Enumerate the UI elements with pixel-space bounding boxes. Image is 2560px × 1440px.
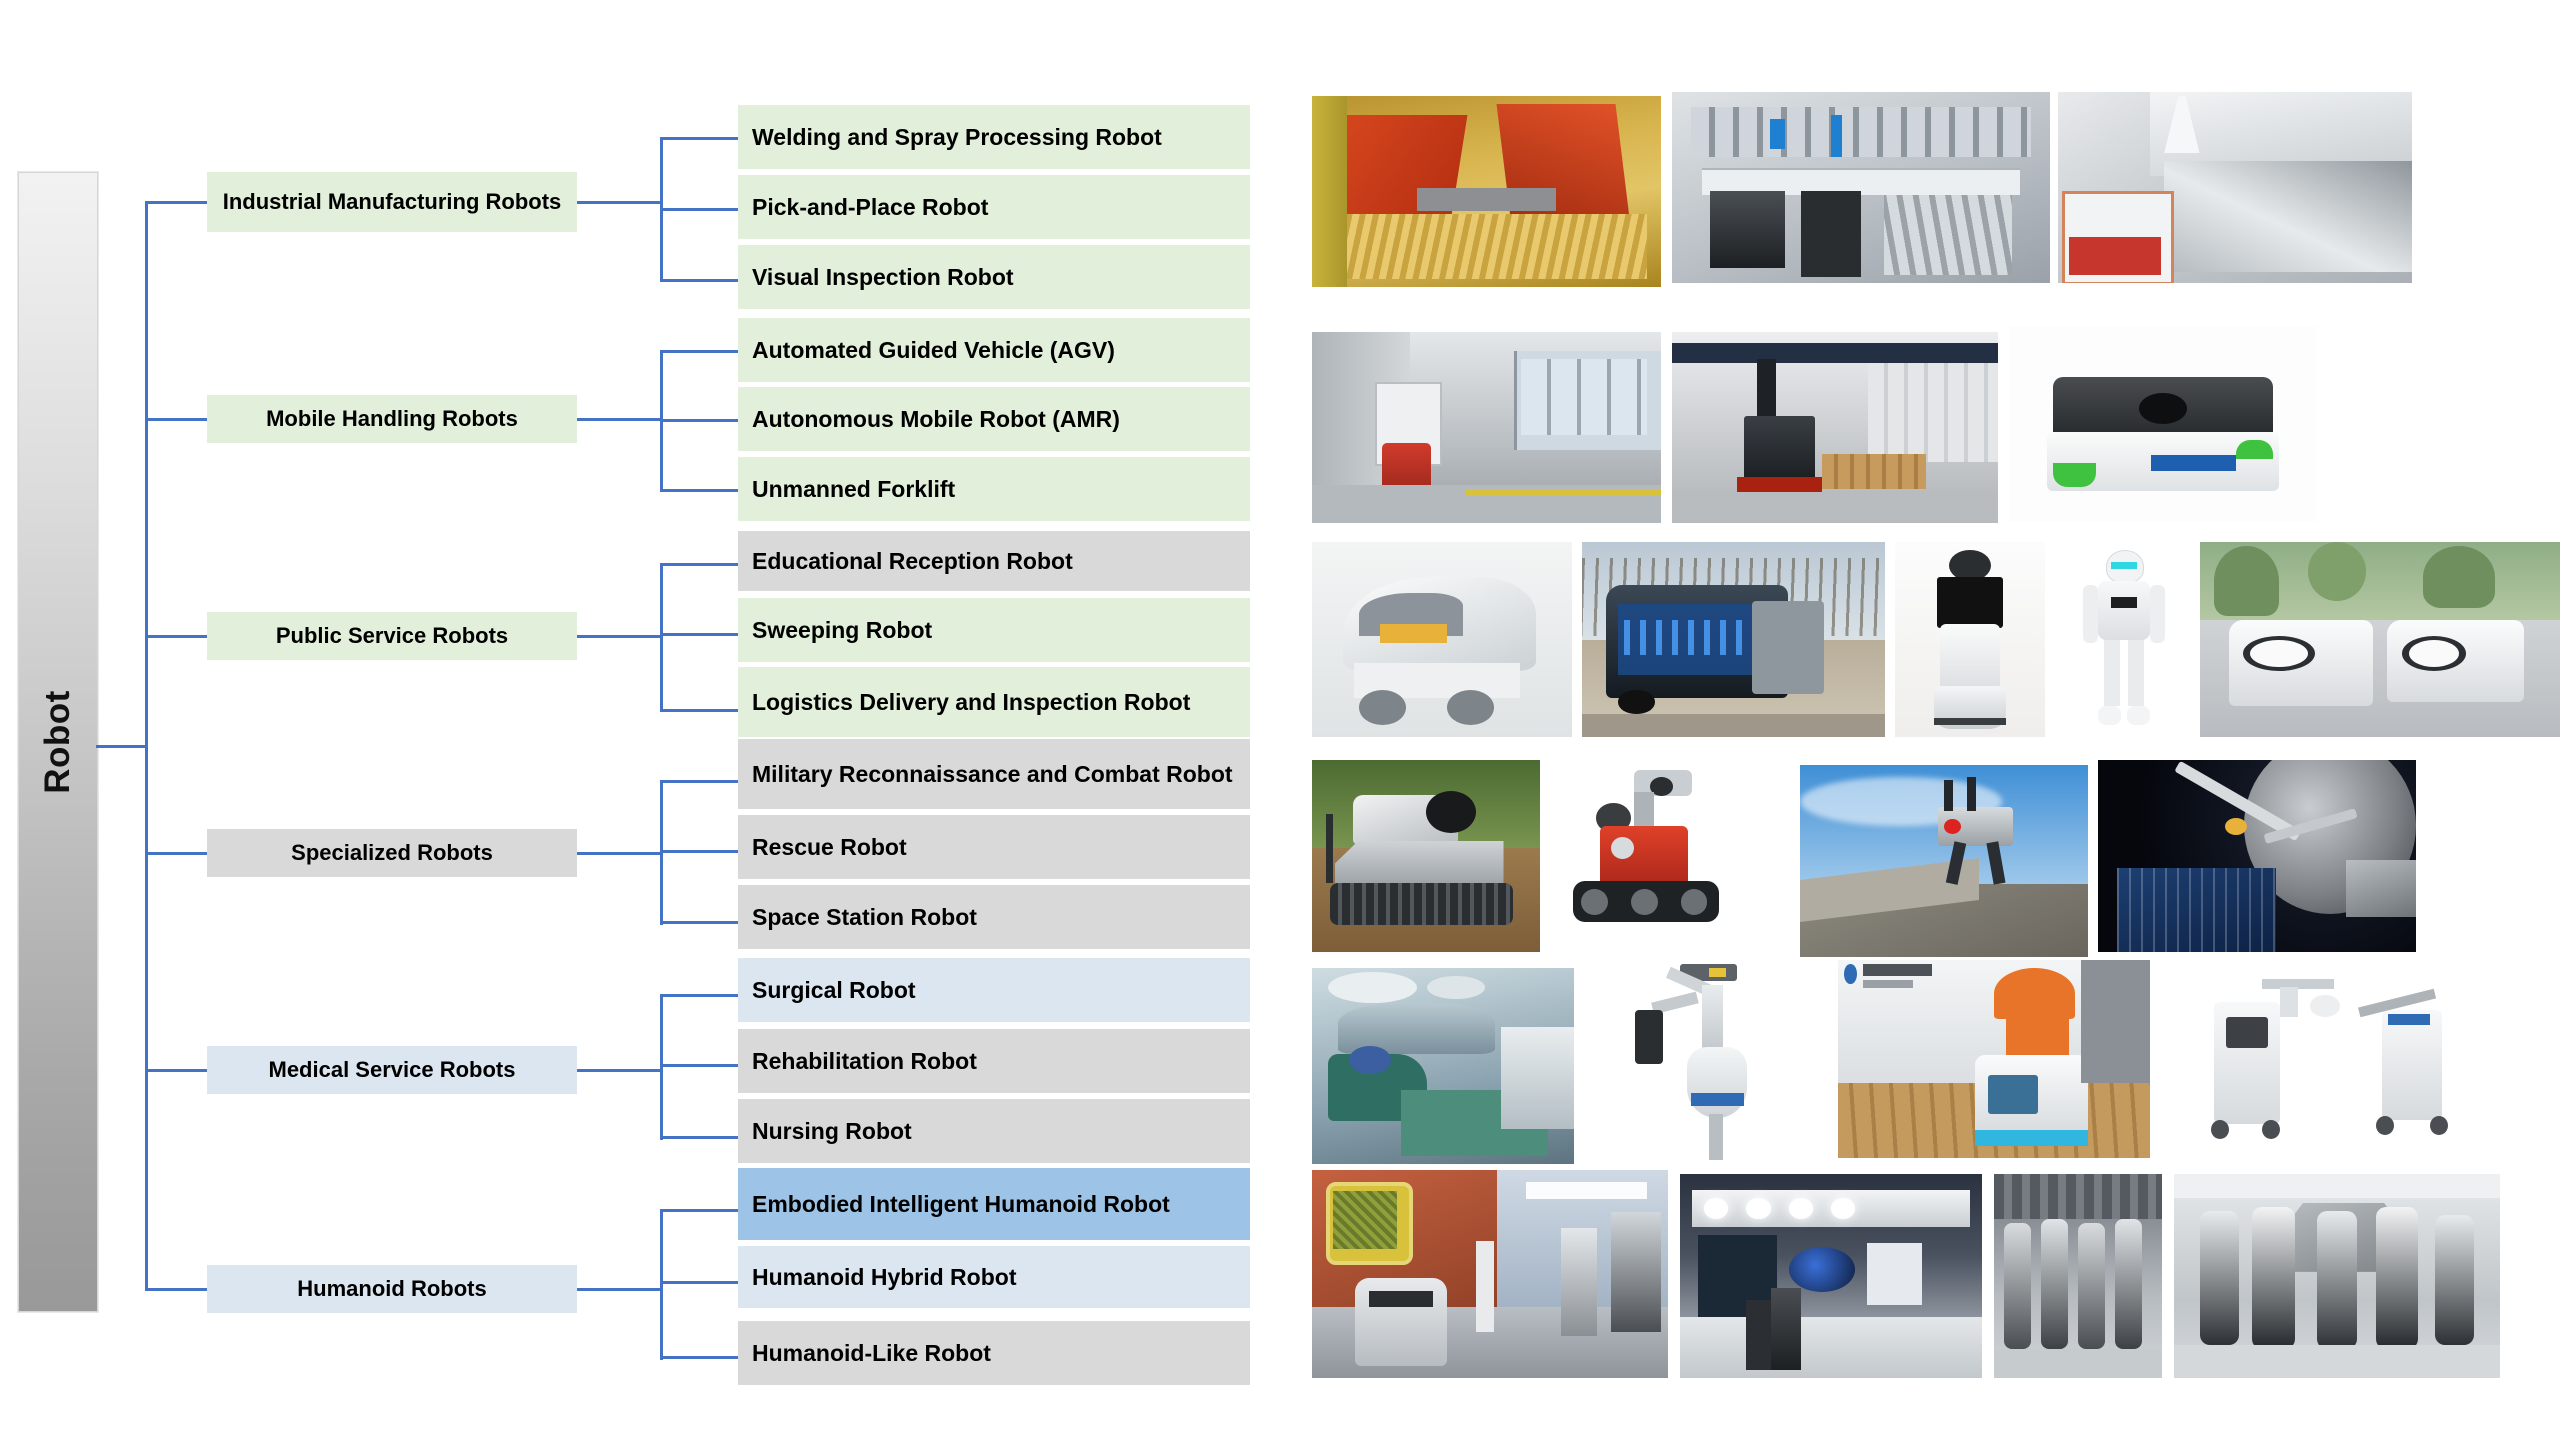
photo-fp-rehabilitation-robot <box>1838 960 2150 1158</box>
connector-root-to-cat-4 <box>145 852 207 855</box>
leaf-label: Visual Inspection Robot <box>752 264 1014 291</box>
photo-humanoid-exhibition-change-the-world <box>1312 1170 1668 1378</box>
category-label: Public Service Robots <box>276 623 508 649</box>
connector-root-to-cat-2 <box>145 418 207 421</box>
connector-cat6-leaf2 <box>660 1281 738 1284</box>
photo-sf-delivery-vehicles <box>2200 542 2560 737</box>
category-label: Medical Service Robots <box>269 1057 516 1083</box>
photo-welding-robot-arms-conveyor <box>1312 96 1661 287</box>
connector-cat1-leaf2 <box>660 208 738 211</box>
leaf-node-sweeping-robot[interactable]: Sweeping Robot <box>738 598 1250 662</box>
photo-amr-platform <box>2010 326 2316 522</box>
connector-cat1-leaf3 <box>660 279 738 282</box>
photo-space-station-manipulator-arm <box>2098 760 2416 952</box>
connector-cat4-leaf1 <box>660 780 738 783</box>
connector-cat2-leaf2 <box>660 419 738 422</box>
mindmap-canvas: Robot Industrial Manufacturing Robots Mo… <box>0 0 2560 1440</box>
connector-cat3-leaf1 <box>660 563 738 566</box>
leaf-label: Logistics Delivery and Inspection Robot <box>752 689 1190 716</box>
leaf-node-welding-and-spray-processing-robot[interactable]: Welding and Spray Processing Robot <box>738 105 1250 169</box>
leaf-label: Rehabilitation Robot <box>752 1048 977 1075</box>
connector-cat6-leaf1 <box>660 1209 738 1212</box>
connector-cat6-leaf3 <box>660 1356 738 1359</box>
photo-nursing-robot-carts <box>2196 968 2496 1158</box>
leaf-label: Surgical Robot <box>752 977 916 1004</box>
connector-cat5-stem <box>577 1069 662 1072</box>
connector-cat2-stem <box>577 418 662 421</box>
leaf-label: Nursing Robot <box>752 1118 912 1145</box>
connector-root-to-cat-6 <box>145 1288 207 1291</box>
connector-cat5-spine <box>660 995 663 1140</box>
connector-cat3-leaf3 <box>660 709 738 712</box>
leaf-node-nursing-robot[interactable]: Nursing Robot <box>738 1099 1250 1163</box>
connector-cat5-leaf2 <box>660 1064 738 1067</box>
category-node-mobile-handling-robots[interactable]: Mobile Handling Robots <box>207 395 577 443</box>
photo-small-humanoid-service-robot <box>2060 542 2188 737</box>
photo-red-firefighting-combat-robot <box>1550 766 1742 952</box>
leaf-node-rehabilitation-robot[interactable]: Rehabilitation Robot <box>738 1029 1250 1093</box>
leaf-label: Sweeping Robot <box>752 617 932 644</box>
photo-unmanned-forklift-warehouse <box>1672 332 1998 523</box>
leaf-label: Welding and Spray Processing Robot <box>752 124 1162 151</box>
connector-root-to-cat-5 <box>145 1069 207 1072</box>
connector-root-stem <box>96 745 148 748</box>
connector-cat5-leaf3 <box>660 1136 738 1139</box>
category-label: Mobile Handling Robots <box>266 406 518 432</box>
leaf-label: Rescue Robot <box>752 834 907 861</box>
photo-surgical-robot-arm <box>1610 960 1786 1168</box>
connector-root-spine <box>145 201 148 1291</box>
connector-cat3-leaf2 <box>660 633 738 636</box>
leaf-node-autonomous-mobile-robot-amr[interactable]: Autonomous Mobile Robot (AMR) <box>738 387 1250 451</box>
connector-cat4-leaf3 <box>660 921 738 924</box>
leaf-node-embodied-intelligent-humanoid-robot[interactable]: Embodied Intelligent Humanoid Robot <box>738 1168 1250 1240</box>
leaf-label: Embodied Intelligent Humanoid Robot <box>752 1191 1170 1218</box>
leaf-label: Military Reconnaissance and Combat Robot <box>752 761 1233 788</box>
category-node-public-service-robots[interactable]: Public Service Robots <box>207 612 577 660</box>
leaf-label: Unmanned Forklift <box>752 476 955 503</box>
root-node-robot[interactable]: Robot <box>18 172 98 1312</box>
connector-cat5-leaf1 <box>660 994 738 997</box>
leaf-label: Humanoid Hybrid Robot <box>752 1264 1016 1291</box>
leaf-label: Humanoid-Like Robot <box>752 1340 991 1367</box>
leaf-node-humanoid-hybrid-robot[interactable]: Humanoid Hybrid Robot <box>738 1246 1250 1308</box>
photo-visual-inspection-line <box>2058 92 2412 283</box>
leaf-node-unmanned-forklift[interactable]: Unmanned Forklift <box>738 457 1250 521</box>
photo-reception-robot-screen <box>1895 542 2045 737</box>
leaf-node-automated-guided-vehicle-agv[interactable]: Automated Guided Vehicle (AGV) <box>738 318 1250 382</box>
category-node-medical-service-robots[interactable]: Medical Service Robots <box>207 1046 577 1094</box>
leaf-label: Autonomous Mobile Robot (AMR) <box>752 406 1120 433</box>
leaf-node-space-station-robot[interactable]: Space Station Robot <box>738 885 1250 949</box>
connector-cat6-stem <box>577 1288 662 1291</box>
connector-cat1-leaf1 <box>660 137 738 140</box>
photo-pick-and-place-gantry <box>1672 92 2050 283</box>
leaf-node-educational-reception-robot[interactable]: Educational Reception Robot <box>738 531 1250 591</box>
leaf-node-visual-inspection-robot[interactable]: Visual Inspection Robot <box>738 245 1250 309</box>
leaf-label: Educational Reception Robot <box>752 548 1073 575</box>
category-node-humanoid-robots[interactable]: Humanoid Robots <box>207 1265 577 1313</box>
photo-humanoid-assembly-line <box>1994 1174 2162 1378</box>
connector-cat4-spine <box>660 781 663 925</box>
connector-cat3-stem <box>577 635 662 638</box>
category-node-industrial-manufacturing-robots[interactable]: Industrial Manufacturing Robots <box>207 172 577 232</box>
photo-agv-in-factory-aisle <box>1312 332 1661 523</box>
category-label: Specialized Robots <box>291 840 493 866</box>
leaf-node-pick-and-place-robot[interactable]: Pick-and-Place Robot <box>738 175 1250 239</box>
connector-cat1-stem <box>577 201 662 204</box>
leaf-label: Space Station Robot <box>752 904 977 931</box>
photo-paxini-booth-humanoids <box>1680 1174 1982 1378</box>
connector-cat4-stem <box>577 852 662 855</box>
connector-root-to-cat-1 <box>145 201 207 204</box>
leaf-node-rescue-robot[interactable]: Rescue Robot <box>738 815 1250 879</box>
photo-humanoid-robot-fleet <box>2174 1174 2500 1378</box>
leaf-node-logistics-delivery-and-inspection-robot[interactable]: Logistics Delivery and Inspection Robot <box>738 667 1250 737</box>
leaf-label: Automated Guided Vehicle (AGV) <box>752 337 1115 364</box>
root-label: Robot <box>38 690 78 794</box>
leaf-label: Pick-and-Place Robot <box>752 194 988 221</box>
leaf-node-surgical-robot[interactable]: Surgical Robot <box>738 958 1250 1022</box>
connector-root-to-cat-3 <box>145 635 207 638</box>
photo-quadruped-rescue-robot-rubble <box>1800 765 2088 957</box>
photo-sweeping-robot <box>1312 542 1572 737</box>
photo-operating-room-surgery <box>1312 968 1574 1164</box>
photo-autonomous-shuttle-bus <box>1582 542 1885 737</box>
category-node-specialized-robots[interactable]: Specialized Robots <box>207 829 577 877</box>
category-label: Humanoid Robots <box>297 1276 486 1302</box>
root-label-wrap: Robot <box>19 173 97 1311</box>
connector-cat4-leaf2 <box>660 850 738 853</box>
connector-cat6-spine <box>660 1210 663 1360</box>
connector-cat2-leaf1 <box>660 350 738 353</box>
category-label: Industrial Manufacturing Robots <box>223 189 562 215</box>
connector-cat2-leaf3 <box>660 489 738 492</box>
leaf-node-military-reconnaissance-and-combat-robot[interactable]: Military Reconnaissance and Combat Robot <box>738 739 1250 809</box>
leaf-node-humanoid-like-robot[interactable]: Humanoid-Like Robot <box>738 1321 1250 1385</box>
connector-cat3-spine <box>660 564 663 712</box>
photo-tracked-recon-robot <box>1312 760 1540 952</box>
